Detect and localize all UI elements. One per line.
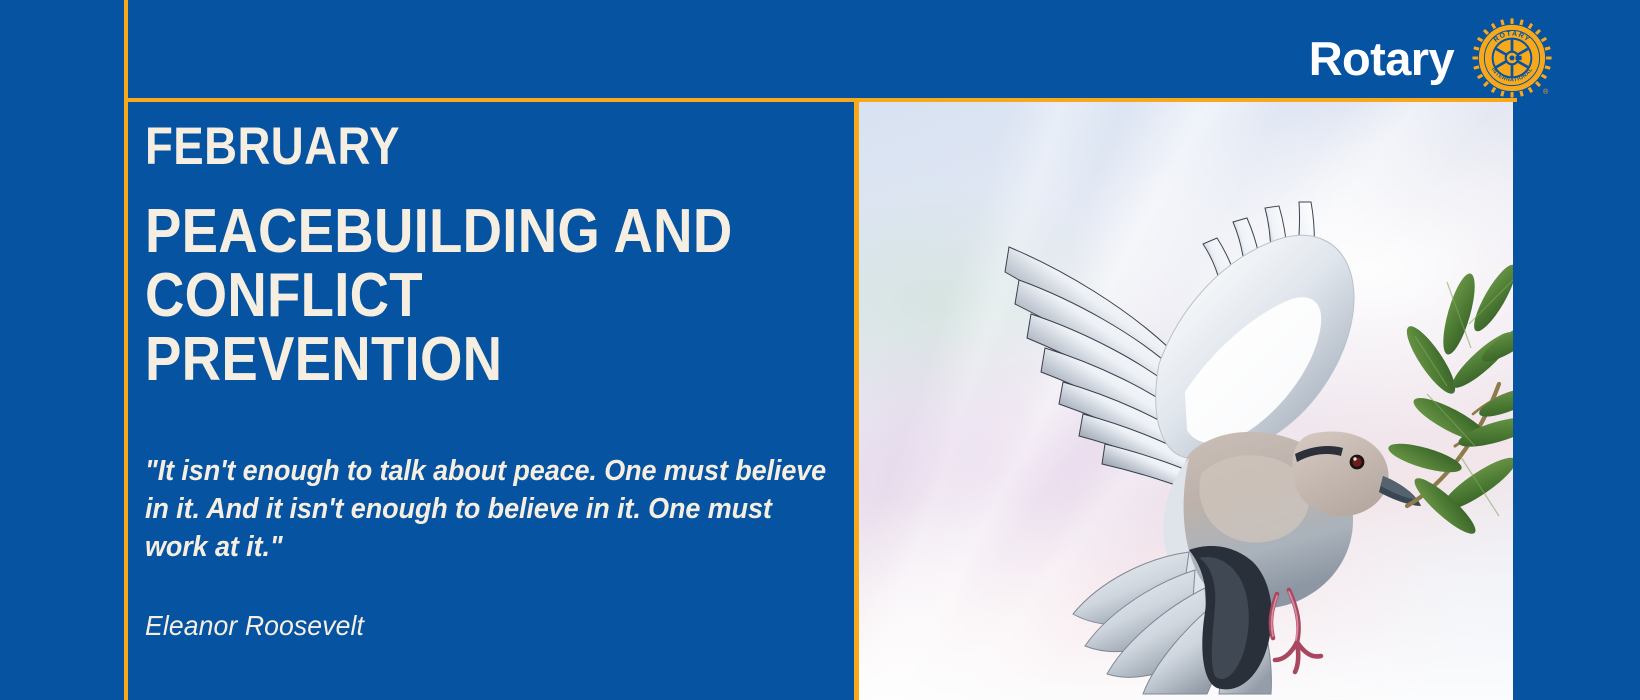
dove-with-olive-branch-illustration — [859, 102, 1513, 700]
quote-text: "It isn't enough to talk about peace. On… — [145, 452, 838, 567]
theme-heading-line-2: CONFLICT PREVENTION — [145, 264, 752, 392]
month-heading: FEBRUARY — [145, 120, 738, 174]
theme-text-column: FEBRUARY PEACEBUILDING AND CONFLICT PREV… — [145, 120, 835, 642]
dove-photo-panel — [859, 102, 1513, 700]
gold-vertical-divider-left — [124, 0, 128, 700]
quote-attribution: Eleanor Roosevelt — [145, 610, 801, 642]
rotary-masthead: Rotary — [1309, 18, 1552, 98]
registered-trademark-mark: ® — [1543, 87, 1549, 96]
theme-heading: PEACEBUILDING AND CONFLICT PREVENTION — [145, 200, 752, 392]
theme-heading-line-1: PEACEBUILDING AND — [145, 200, 752, 264]
rotary-monthly-theme-banner: Rotary — [0, 0, 1640, 700]
rotary-wheel-icon: ROTARY INTERNATIONAL ® — [1472, 18, 1552, 98]
rotary-wordmark: Rotary — [1309, 35, 1454, 82]
dove-head — [1292, 432, 1388, 517]
